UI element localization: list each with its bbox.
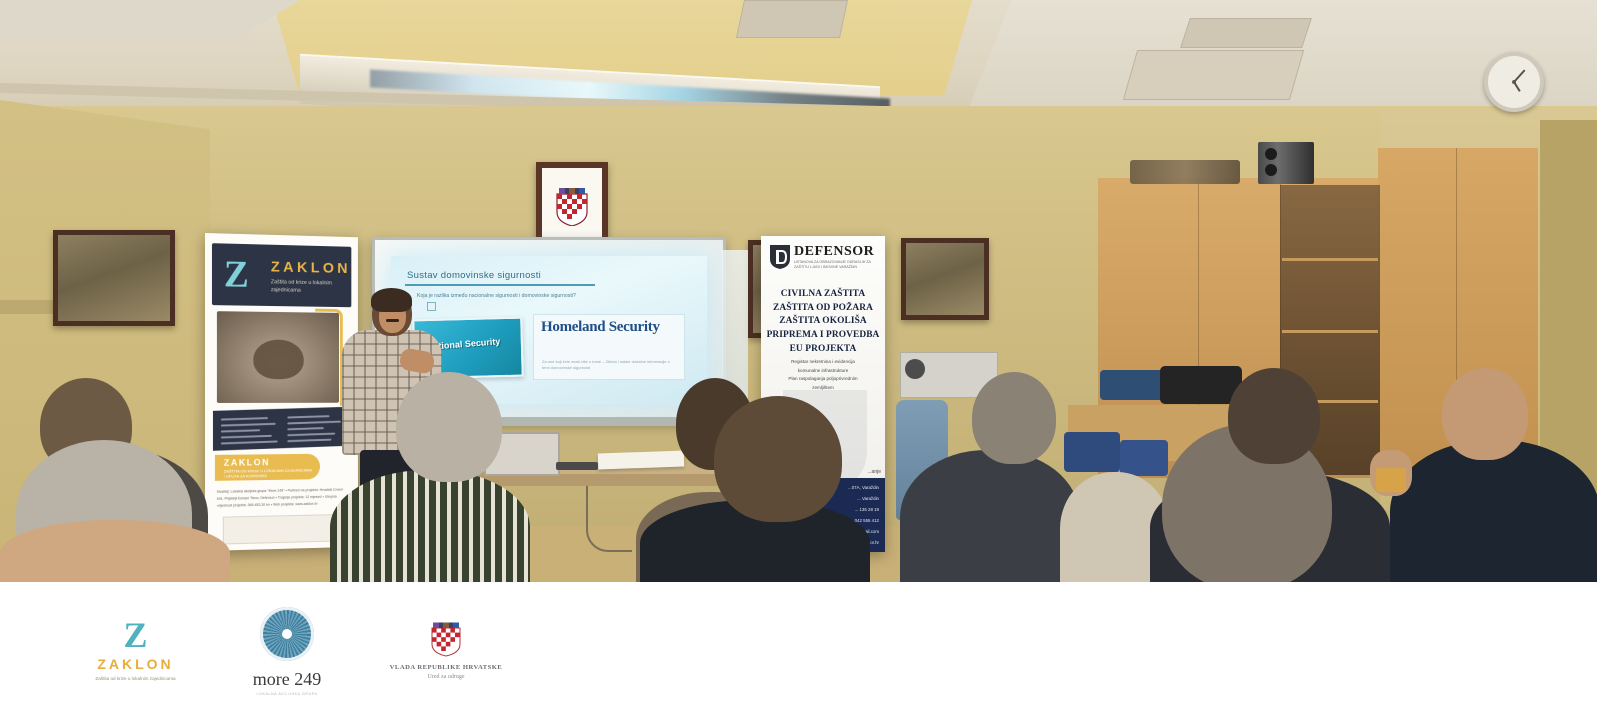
audience-member (900, 450, 1080, 582)
vlada-subtitle: Ured za udruge (428, 674, 465, 680)
window-strip (722, 250, 748, 400)
wall-photo-frame (53, 230, 175, 326)
audience-head (714, 396, 842, 522)
rollup-section-subtitle: ZAŠTITA OD KRIZE U LOKALNIM ZAJEDNICAMA … (224, 468, 313, 480)
bullet-square-icon (427, 302, 436, 311)
vlada-title: VLADA REPUBLIKE HRVATSKE (390, 664, 503, 671)
blue-chair (1120, 440, 1168, 476)
defensor-shield-icon (769, 244, 791, 270)
hands-heart-shape (253, 339, 303, 379)
rollup-body-text: Nositelj: Lokalna akcijska grupa "More 2… (217, 487, 349, 510)
croatian-coat-of-arms-frame (536, 162, 608, 248)
more-249-title: more 249 (253, 669, 321, 690)
rollup-tagline: Zaštita od krize u lokalnim zajednicama (271, 278, 355, 296)
rollup-section-title: ZAKLON (224, 457, 270, 468)
black-bag (1160, 366, 1242, 404)
logo-row: Z ZAKLON Zaštita od krize u lokalnim zaj… (0, 582, 1597, 720)
speaker (1258, 142, 1314, 184)
presenter-hair (371, 288, 412, 312)
rollup-header: Z ZAKLON Zaštita od krize u lokalnim zaj… (212, 243, 351, 307)
more-249-logo: more 249 LOKALNA AKCIJSKA GRUPA (232, 596, 342, 706)
slide-title: Sustav domovinske sigurnosti (407, 270, 541, 281)
more-249-subtitle: LOKALNA AKCIJSKA GRUPA (256, 692, 317, 696)
sponsor-logo-bar: Z ZAKLON Zaštita od krize u lokalnim zaj… (0, 582, 1597, 720)
homeland-security-book-cover: Homeland Security Za one koji žele znati… (533, 314, 685, 380)
audience-head (972, 372, 1056, 464)
wall-clock-icon (1484, 52, 1544, 112)
rollup-hands-photo (217, 311, 339, 403)
zaklon-z-mark: Z (224, 255, 263, 296)
coat-of-arms-icon (555, 186, 589, 226)
presenter-moustache (386, 319, 399, 322)
defensor-headline: CIVILNA ZAŠTITA ZAŠTITA OD POŽARA ZAŠTIT… (766, 288, 880, 356)
homeland-security-title: Homeland Security (541, 320, 660, 335)
slide-title-underline (405, 284, 595, 286)
more-249-disc-icon (260, 607, 314, 661)
zaklon-logo: Z ZAKLON Zaštita od krize u lokalnim zaj… (78, 594, 193, 706)
remote-device (556, 462, 598, 470)
defensor-subtitle: USTANOVA ZA OBRAZOVANJE ODRASLIH ZA ZAŠT… (794, 260, 880, 271)
clock-center (1512, 80, 1516, 84)
wall-trim (0, 300, 60, 314)
homeland-security-caption: Za one koji žele znati više o tome – Zbi… (542, 359, 672, 371)
cable (586, 486, 632, 552)
blue-chair (1064, 432, 1120, 472)
croatian-coat-of-arms-icon (431, 621, 461, 657)
defensor-name: DEFENSOR (794, 244, 874, 260)
seminar-photo: Sustav domovinske sigurnosti Koja je raz… (0, 0, 1597, 582)
rollup-section-title-block: ZAKLON ZAŠTITA OD KRIZE U LOKALNIM ZAJED… (215, 454, 320, 481)
rollup-bullet-strip (213, 407, 350, 451)
rollup-brand-name: ZAKLON (271, 259, 351, 277)
audience-member (1390, 440, 1597, 582)
zaklon-rollup-banner: Z ZAKLON Zaštita od krize u lokalnim zaj… (205, 233, 358, 551)
papers-stack (598, 451, 685, 470)
rollup-footer-logos (223, 514, 343, 545)
audience-member (330, 470, 530, 582)
ceiling-vent (1180, 18, 1312, 48)
screenshot-root: Sustav domovinske sigurnosti Koja je raz… (0, 0, 1597, 720)
uniform-patch (1376, 468, 1406, 492)
vlada-republike-hrvatske-logo: VLADA REPUBLIKE HRVATSKE Ured za udruge (382, 598, 510, 702)
slide-bullet-text: Koja je razlika između nacionalne sigurn… (417, 293, 576, 299)
audience-member (0, 520, 230, 582)
zaklon-logo-title: ZAKLON (97, 656, 173, 672)
audience-head (396, 372, 502, 482)
audience-head (1442, 368, 1528, 460)
wall-photo-frame (901, 238, 989, 320)
slide-bullet: Koja je razlika između nacionalne sigurn… (417, 292, 627, 300)
cabinet-top-items (1130, 160, 1240, 184)
ceiling-vent (1123, 50, 1304, 100)
zaklon-logo-subtitle: Zaštita od krize u lokalnim zajednicama (82, 675, 190, 682)
audience-head (1228, 368, 1320, 464)
ceiling-vent (736, 0, 848, 38)
zaklon-z-mark-icon: Z (123, 618, 147, 652)
